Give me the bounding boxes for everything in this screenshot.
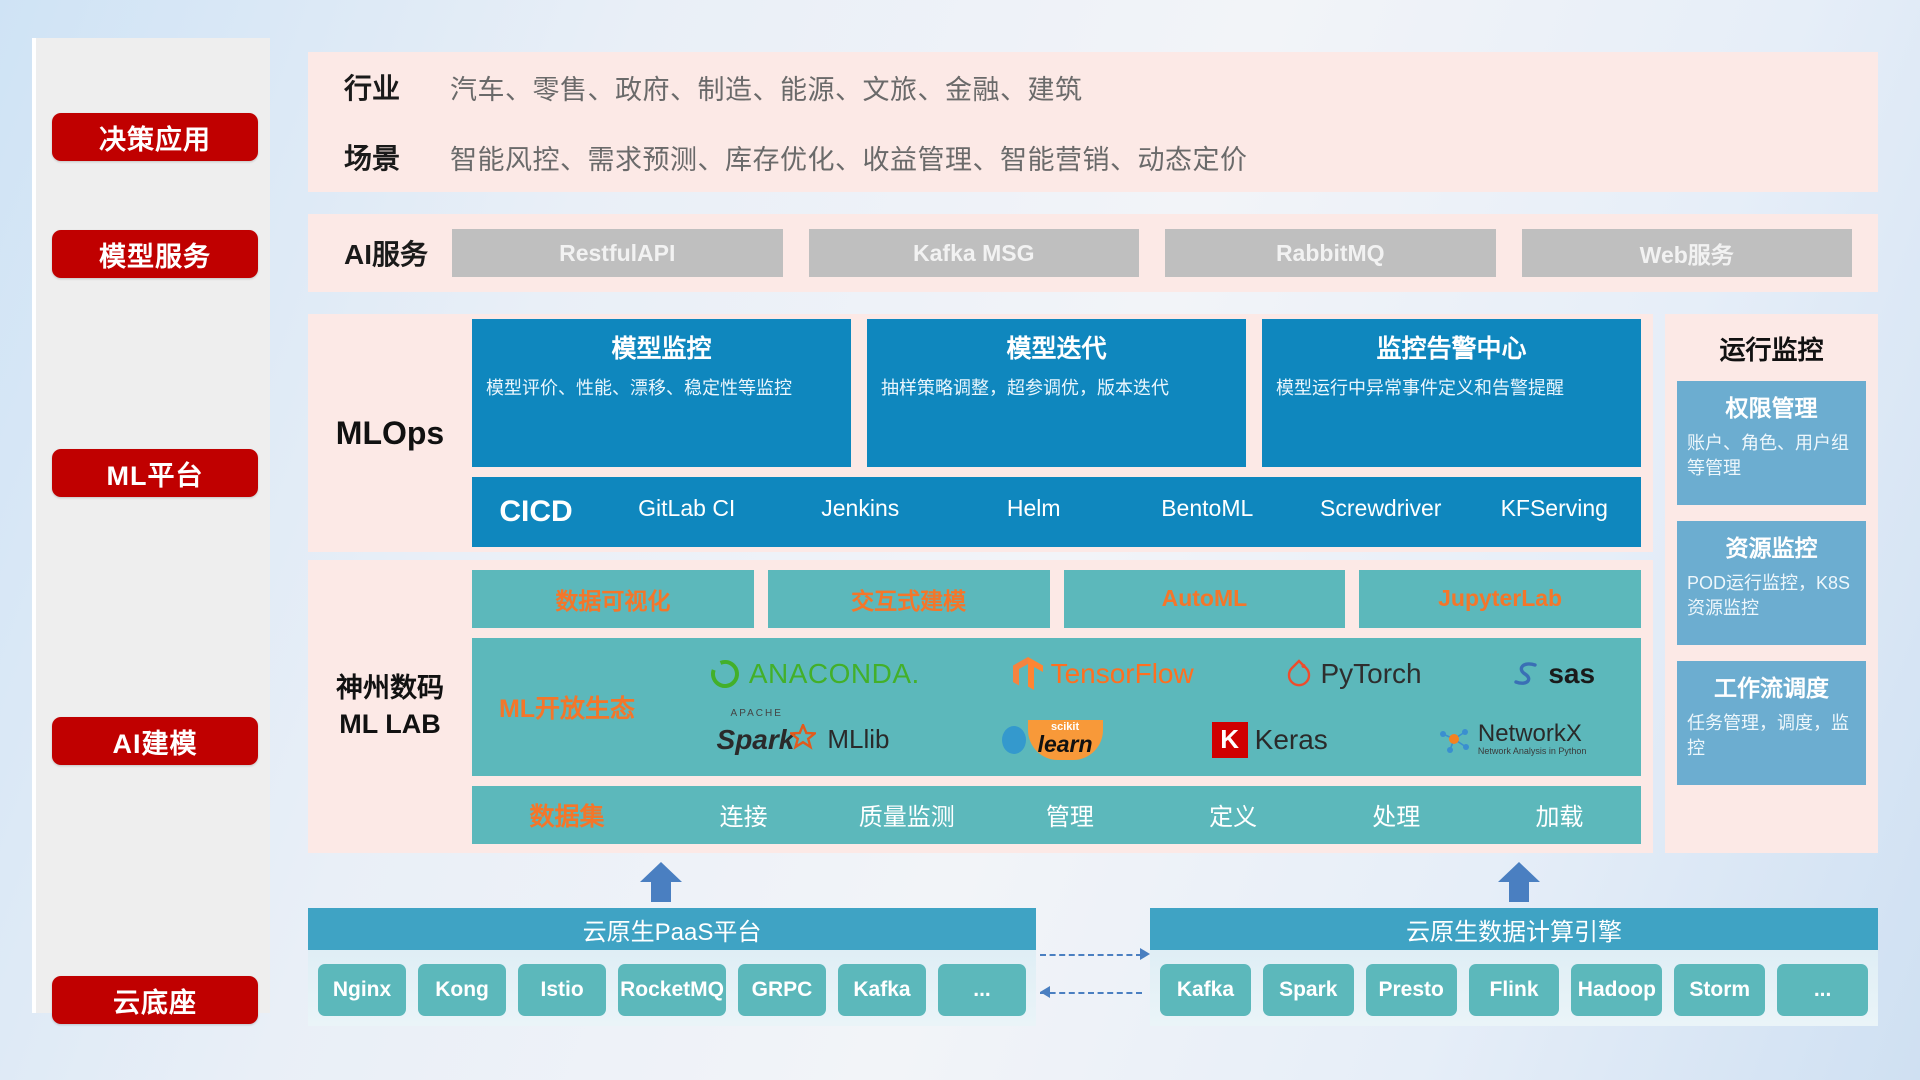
sas-icon [1513, 659, 1541, 689]
layer-rail: 决策应用 模型服务 ML平台 AI建模 云底座 [32, 38, 270, 1013]
diagram-canvas: 决策应用 模型服务 ML平台 AI建模 云底座 行业 汽车、零售、政府、制造、能… [0, 0, 1920, 1080]
ml-lab-band: 神州数码 ML LAB 数据可视化 交互式建模 AutoML JupyterLa… [308, 560, 1653, 853]
cloud-tile-nginx[interactable]: Nginx [318, 964, 406, 1016]
up-arrow-paas-icon [640, 862, 682, 902]
lab-tool-interactive-modeling[interactable]: 交互式建模 [768, 570, 1050, 628]
lab-tool-jupyterlab[interactable]: JupyterLab [1359, 570, 1641, 628]
cicd-label: CICD [472, 495, 600, 529]
cicd-item-list: GitLab CI Jenkins Helm BentoML Screwdriv… [600, 497, 1641, 527]
card-title: 模型迭代 [881, 329, 1232, 365]
keras-logo: K Keras [1212, 722, 1328, 758]
lab-tool-list: 数据可视化 交互式建模 AutoML JupyterLab [472, 570, 1641, 628]
ai-service-label: AI服务 [344, 233, 452, 273]
card-desc: 模型评价、性能、漂移、稳定性等监控 [486, 375, 837, 401]
cloud-data-engine-tile-list: Kafka Spark Presto Flink Hadoop Storm ..… [1150, 950, 1878, 1026]
rail-item-ml-platform[interactable]: ML平台 [52, 449, 258, 497]
spark-wordmark: Spark [717, 724, 795, 756]
cloud-paas-block: 云原生PaaS平台 Nginx Kong Istio RocketMQ GRPC… [308, 908, 1036, 1026]
networkx-tagline: Network Analysis in Python [1478, 746, 1587, 758]
dataset-item-processing[interactable]: 处理 [1315, 797, 1478, 832]
mlops-label: MLOps [308, 415, 472, 452]
keras-wordmark: Keras [1255, 724, 1328, 756]
ai-service-band: AI服务 RestfulAPI Kafka MSG RabbitMQ Web服务 [308, 214, 1878, 292]
cloud-tile-hadoop[interactable]: Hadoop [1571, 964, 1662, 1016]
mlops-band: MLOps 模型监控 模型评价、性能、漂移、稳定性等监控 模型迭代 抽样策略调整… [308, 314, 1653, 552]
rail-item-cloud-base[interactable]: 云底座 [52, 976, 258, 1024]
cloud-tile-istio[interactable]: Istio [518, 964, 606, 1016]
networkx-logo: NetworkX Network Analysis in Python [1437, 722, 1587, 758]
sas-wordmark: sas [1548, 658, 1595, 690]
card-desc: 任务管理，调度，监控 [1687, 711, 1856, 761]
anaconda-wordmark: ANACONDA. [749, 658, 920, 690]
mllib-wordmark: MLlib [827, 724, 889, 755]
anaconda-logo: ANACONDA. [708, 657, 920, 691]
cloud-paas-header: 云原生PaaS平台 [308, 908, 1036, 950]
cloud-data-engine-header: 云原生数据计算引擎 [1150, 908, 1878, 950]
ecosystem-logo-row-2: APACHE Spark MLlib [662, 709, 1641, 771]
up-arrow-data-engine-icon [1498, 862, 1540, 902]
mlops-content: 模型监控 模型评价、性能、漂移、稳定性等监控 模型迭代 抽样策略调整，超参调优，… [472, 319, 1653, 547]
bidirectional-dashed-link-icon [1040, 948, 1150, 1000]
runtime-monitoring-title: 运行监控 [1677, 330, 1866, 367]
cloud-tile-grpc[interactable]: GRPC [738, 964, 826, 1016]
ai-service-chip-list: RestfulAPI Kafka MSG RabbitMQ Web服务 [452, 229, 1852, 277]
keras-badge-icon: K [1212, 722, 1248, 758]
card-desc: 模型运行中异常事件定义和告警提醒 [1276, 375, 1627, 401]
cloud-data-engine-block: 云原生数据计算引擎 Kafka Spark Presto Flink Hadoo… [1150, 908, 1878, 1026]
ml-lab-label: 神州数码 ML LAB [308, 671, 472, 741]
card-title: 监控告警中心 [1276, 329, 1627, 365]
spark-star-icon [790, 724, 816, 750]
cloud-tile-storm[interactable]: Storm [1674, 964, 1765, 1016]
card-title: 资源监控 [1687, 529, 1856, 563]
cicd-item-helm[interactable]: Helm [947, 497, 1121, 527]
cicd-item-jenkins[interactable]: Jenkins [774, 497, 948, 527]
mlops-card-alert-center[interactable]: 监控告警中心 模型运行中异常事件定义和告警提醒 [1262, 319, 1641, 467]
cloud-tile-kong[interactable]: Kong [418, 964, 506, 1016]
tensorflow-icon [1012, 656, 1044, 692]
dataset-item-management[interactable]: 管理 [988, 797, 1151, 832]
scikit-blue-blob-icon [999, 725, 1029, 755]
tensorflow-logo: TensorFlow [1012, 656, 1194, 692]
pytorch-logo: PyTorch [1285, 658, 1421, 690]
ai-chip-restfulapi[interactable]: RestfulAPI [452, 229, 783, 277]
ai-chip-kafka-msg[interactable]: Kafka MSG [809, 229, 1140, 277]
cloud-paas-tile-list: Nginx Kong Istio RocketMQ GRPC Kafka ... [308, 950, 1036, 1026]
ml-lab-label-line2: ML LAB [308, 707, 472, 742]
ml-lab-label-line1: 神州数码 [308, 671, 472, 706]
pytorch-wordmark: PyTorch [1320, 658, 1421, 690]
rail-item-model-service[interactable]: 模型服务 [52, 230, 258, 278]
cloud-tile-flink[interactable]: Flink [1469, 964, 1560, 1016]
cloud-tile-more[interactable]: ... [938, 964, 1026, 1016]
scenario-row: 场景 智能风控、需求预测、库存优化、收益管理、智能营销、动态定价 [308, 122, 1878, 192]
card-title: 模型监控 [486, 329, 837, 365]
cloud-tile-spark[interactable]: Spark [1263, 964, 1354, 1016]
networkx-icon [1437, 725, 1471, 755]
cicd-item-kfserving[interactable]: KFServing [1468, 497, 1642, 527]
spark-apache-text: APACHE [731, 708, 783, 719]
dataset-item-loading[interactable]: 加载 [1478, 797, 1641, 832]
tensorflow-wordmark: TensorFlow [1051, 658, 1194, 690]
mlops-card-list: 模型监控 模型评价、性能、漂移、稳定性等监控 模型迭代 抽样策略调整，超参调优，… [472, 319, 1641, 467]
industry-value: 汽车、零售、政府、制造、能源、文旅、金融、建筑 [450, 68, 1083, 107]
cicd-item-screwdriver[interactable]: Screwdriver [1294, 497, 1468, 527]
rail-item-decision-app[interactable]: 决策应用 [52, 113, 258, 161]
lab-tool-data-visualization[interactable]: 数据可视化 [472, 570, 754, 628]
card-desc: 抽样策略调整，超参调优，版本迭代 [881, 375, 1232, 401]
card-desc: POD运行监控，K8S资源监控 [1687, 571, 1856, 621]
dataset-item-definition[interactable]: 定义 [1152, 797, 1315, 832]
dataset-label: 数据集 [472, 797, 662, 833]
mlops-card-model-iteration[interactable]: 模型迭代 抽样策略调整，超参调优，版本迭代 [867, 319, 1246, 467]
monitor-card-permission[interactable]: 权限管理 账户、角色、用户组等管理 [1677, 381, 1866, 505]
ml-open-ecosystem-row: ML开放生态 ANACONDA. [472, 638, 1641, 776]
card-title: 工作流调度 [1687, 669, 1856, 703]
ai-chip-rabbitmq[interactable]: RabbitMQ [1165, 229, 1496, 277]
decision-app-band: 行业 汽车、零售、政府、制造、能源、文旅、金融、建筑 场景 智能风控、需求预测、… [308, 52, 1878, 192]
ml-open-ecosystem-label: ML开放生态 [472, 689, 662, 725]
scikit-learn-text: learn [1038, 733, 1093, 756]
mlops-card-model-monitoring[interactable]: 模型监控 模型评价、性能、漂移、稳定性等监控 [472, 319, 851, 467]
ecosystem-logo-grid: ANACONDA. TensorFlow [662, 643, 1641, 771]
industry-row: 行业 汽车、零售、政府、制造、能源、文旅、金融、建筑 [308, 52, 1878, 122]
dataset-item-list: 连接 质量监测 管理 定义 处理 加载 [662, 797, 1641, 832]
runtime-monitoring-band: 运行监控 权限管理 账户、角色、用户组等管理 资源监控 POD运行监控，K8S资… [1665, 314, 1878, 853]
cloud-tile-more[interactable]: ... [1777, 964, 1868, 1016]
dataset-row: 数据集 连接 质量监测 管理 定义 处理 加载 [472, 786, 1641, 844]
lab-tool-automl[interactable]: AutoML [1064, 570, 1346, 628]
sas-logo: sas [1513, 658, 1595, 690]
anaconda-icon [708, 657, 742, 691]
ai-chip-web-service[interactable]: Web服务 [1522, 229, 1853, 277]
cloud-tile-kafka[interactable]: Kafka [1160, 964, 1251, 1016]
scenario-value: 智能风控、需求预测、库存优化、收益管理、智能营销、动态定价 [450, 138, 1248, 177]
rail-item-ai-modeling[interactable]: AI建模 [52, 717, 258, 765]
cicd-item-bentoml[interactable]: BentoML [1121, 497, 1295, 527]
scikit-learn-logo: scikit learn [999, 720, 1103, 760]
cloud-tile-kafka[interactable]: Kafka [838, 964, 926, 1016]
ml-lab-content: 数据可视化 交互式建模 AutoML JupyterLab ML开放生态 ANA… [472, 570, 1653, 844]
cicd-item-gitlab-ci[interactable]: GitLab CI [600, 497, 774, 527]
dataset-item-connect[interactable]: 连接 [662, 797, 825, 832]
monitor-card-resource[interactable]: 资源监控 POD运行监控，K8S资源监控 [1677, 521, 1866, 645]
dataset-item-quality-monitoring[interactable]: 质量监测 [825, 797, 988, 832]
pytorch-icon [1285, 658, 1313, 690]
networkx-wordmark: NetworkX [1478, 722, 1587, 746]
scenario-label: 场景 [344, 137, 450, 177]
monitor-card-workflow[interactable]: 工作流调度 任务管理，调度，监控 [1677, 661, 1866, 785]
cloud-tile-presto[interactable]: Presto [1366, 964, 1457, 1016]
ecosystem-logo-row-1: ANACONDA. TensorFlow [662, 643, 1641, 705]
cloud-tile-rocketmq[interactable]: RocketMQ [618, 964, 726, 1016]
cicd-row: CICD GitLab CI Jenkins Helm BentoML Scre… [472, 477, 1641, 547]
spark-mllib-logo: APACHE Spark MLlib [717, 724, 890, 756]
card-desc: 账户、角色、用户组等管理 [1687, 431, 1856, 481]
card-title: 权限管理 [1687, 389, 1856, 423]
industry-label: 行业 [344, 67, 450, 107]
